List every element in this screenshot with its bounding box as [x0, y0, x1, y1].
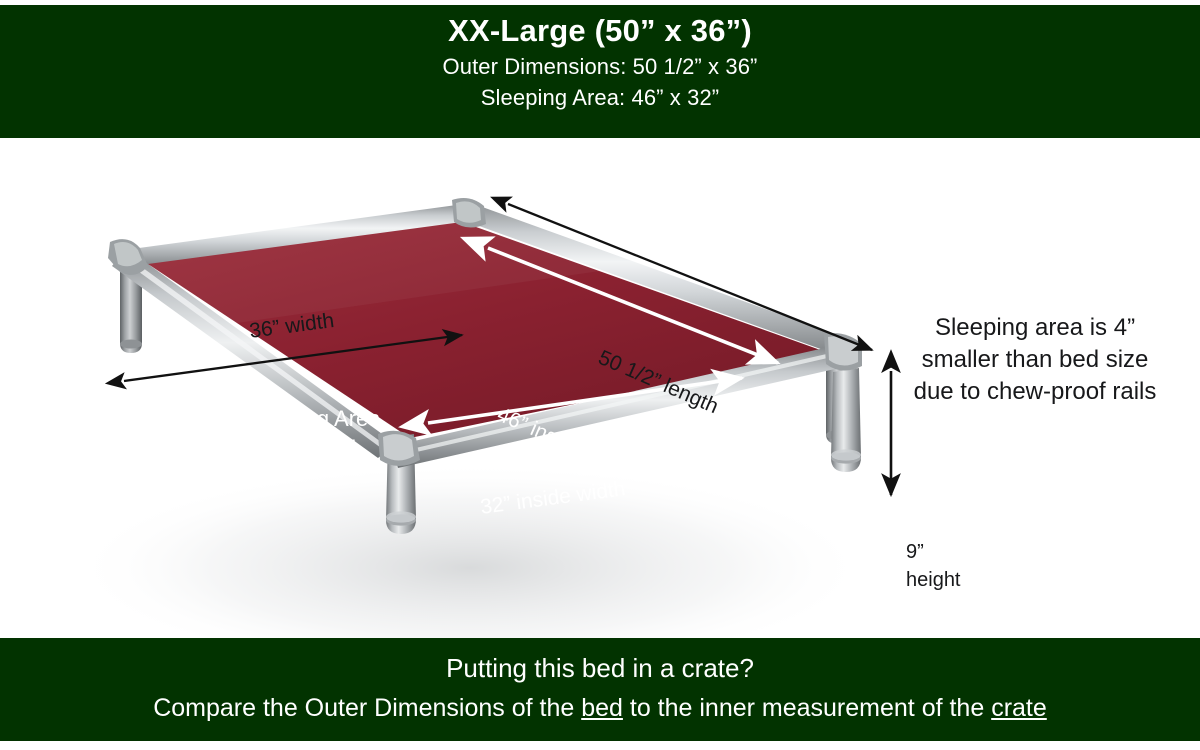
header-banner: XX-Large (50” x 36”) Outer Dimensions: 5…	[0, 5, 1200, 138]
note-line-2: smaller than bed size	[880, 344, 1190, 376]
floor-shadow	[70, 463, 870, 638]
crate-compare-bed-word: bed	[581, 694, 623, 722]
bed-diagram: 36” width 50 1/2” length Sleeping Area 4…	[0, 138, 1200, 638]
corner-fitting-back	[452, 198, 486, 228]
footer-banner: Putting this bed in a crate? Compare the…	[0, 638, 1200, 741]
sleeping-area-callout: Sleeping Area 46” x 32”	[232, 404, 392, 462]
height-value: 9”	[906, 538, 986, 566]
corner-fitting-left	[108, 239, 148, 275]
height-word: height	[906, 566, 986, 594]
front-right-leg	[831, 368, 861, 472]
product-diagram-page: XX-Large (50” x 36”) Outer Dimensions: 5…	[0, 0, 1200, 750]
sleeping-area-callout-line2: 46” x 32”	[232, 433, 392, 462]
note-line-3: due to chew-proof rails	[880, 376, 1190, 408]
height-dimension-label: 9” height	[906, 538, 986, 594]
crate-compare-crate-word: crate	[991, 694, 1047, 722]
crate-compare-middle: to the inner measurement of the	[623, 694, 991, 722]
sleeping-area-text: Sleeping Area: 46” x 32”	[0, 82, 1200, 113]
outer-dimensions-text: Outer Dimensions: 50 1/2” x 36”	[0, 51, 1200, 82]
crate-compare-prefix: Compare the Outer Dimensions of the	[153, 694, 581, 722]
chew-proof-rails-note: Sleeping area is 4” smaller than bed siz…	[880, 312, 1190, 408]
note-line-1: Sleeping area is 4”	[880, 312, 1190, 344]
sleeping-area-callout-line1: Sleeping Area	[232, 404, 392, 433]
page-title: XX-Large (50” x 36”)	[0, 11, 1200, 51]
crate-compare-text: Compare the Outer Dimensions of the bed …	[0, 688, 1200, 728]
crate-question-text: Putting this bed in a crate?	[0, 648, 1200, 688]
